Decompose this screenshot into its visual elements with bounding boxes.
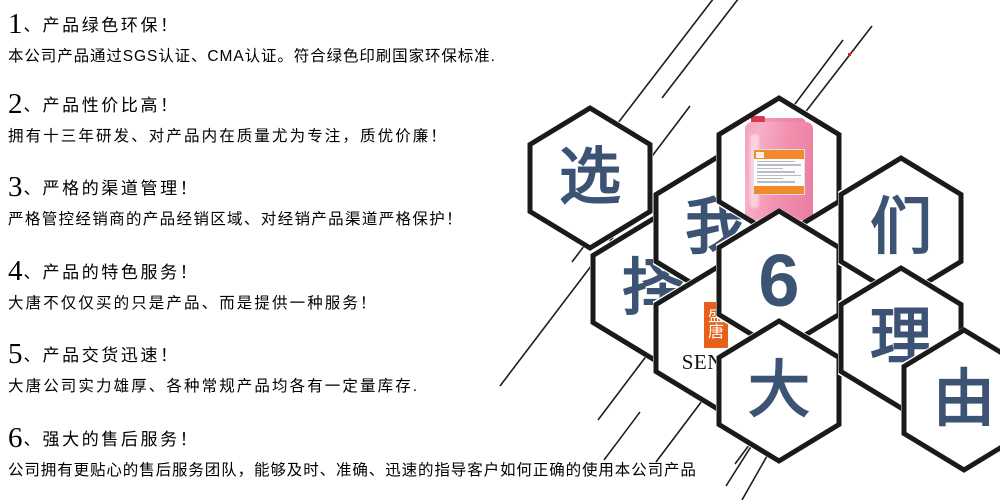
hex-cell-you: 由 [901,327,1000,473]
honeycomb-graphic: 选 择 我 盛 唐 [0,0,1000,500]
hex-label: 由 [901,327,1000,473]
poster-canvas: 1 、 产品绿色环保！ 本公司产品通过SGS认证、CMA认证。符合绿色印刷国家环… [0,0,1000,500]
accent-dot [848,53,851,56]
hex-label: 大 [716,318,842,464]
hex-cell-da: 大 [716,318,842,464]
